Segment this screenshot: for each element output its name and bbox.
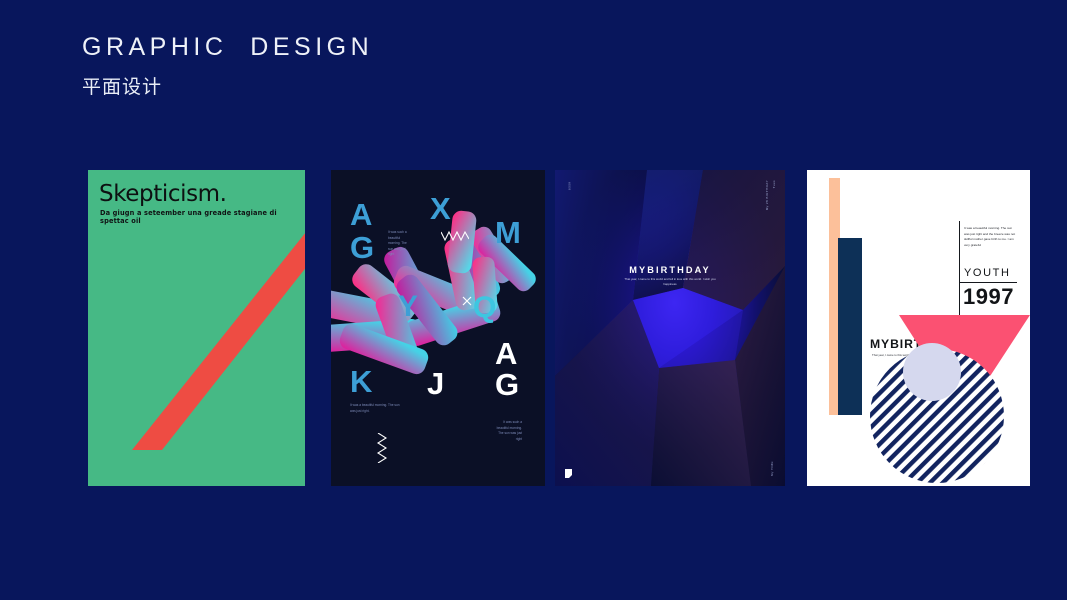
poster2-letter-ag-top: A [495,338,519,369]
zigzag-icon [441,230,469,242]
poster2-micro-text-3: It was such a beautiful morning. The sun… [496,420,522,442]
page-subtitle: 平面设计 [82,72,373,99]
poster3-vertical-right-label-2: Tues [772,180,777,188]
poster2-letter-m: M [495,217,521,248]
poster2-letter-a: A [350,199,372,230]
poster2-letter-ag-bottom: G [495,369,519,400]
poster3-heading: MYBIRTHDAY [555,265,785,275]
poster3-vertical-bottom-right-label: My TIME [770,461,775,476]
poster3-vertical-left-label: 6008 [567,182,572,190]
poster2-letter-q: Q [473,293,496,323]
poster2-letter-x: X [430,193,451,224]
poster3-vertical-right-label-1: My 28 BIRTHDAY [765,180,770,210]
poster3-body-text: That year, I came to this world and fell… [622,277,718,287]
page-title: GRAPHIC DESIGN [82,34,373,62]
poster2-letter-y: Y [398,292,418,322]
poster2-letter-j: J [427,368,444,399]
faceted-gradient-art [555,170,785,486]
poster1-title: Skepticism. [99,181,227,207]
poster2-letter-k: K [350,366,372,397]
page-header: GRAPHIC DESIGN 平面设计 [82,34,373,99]
poster-typography-burst[interactable]: A G X M K Y Q J A G It was such a beauti… [331,170,545,486]
poster3-text-block: MYBIRTHDAY That year, I came to this wor… [555,265,785,287]
poster2-letters-ag: A G [495,338,519,400]
zigzag-vertical-icon [376,433,390,463]
poster-mybirthday-gradient[interactable]: MYBIRTHDAY That year, I came to this wor… [555,170,785,486]
corner-flag-icon [565,469,572,478]
poster2-micro-text-2: It was a beautiful morning. The sun was … [350,403,402,414]
poster-youth-1997[interactable]: MYBIRTHDAY That year, I came to this wor… [807,170,1030,486]
poster4-geometric-shapes [807,170,1030,486]
poster1-subtitle: Da giugn a seteember una greade stagiane… [100,209,300,225]
x-mark-icon [462,296,472,306]
poster-skepticism[interactable]: Skepticism. Da giugn a seteember una gre… [88,170,305,486]
poster2-letter-g: G [350,232,374,263]
poster2-micro-text-1: It was such a beautiful morning. The sun… [388,230,412,258]
